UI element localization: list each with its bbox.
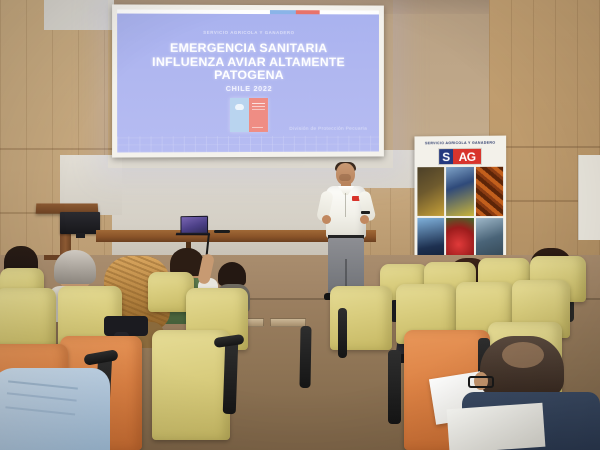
banner-organization: SERVICIO AGRICOLA Y GANADERO [414, 141, 506, 146]
banner-photo-cell [417, 167, 444, 215]
projection-screen: SERVICIO AGRICOLA Y GANADERO EMERGENCIA … [112, 4, 384, 157]
audience-member-foreground [0, 368, 110, 450]
government-logo-icon [230, 98, 268, 132]
presenter-person [316, 163, 380, 303]
slide-footer: División de Protección Pecuaria [289, 127, 367, 132]
slide-organization: SERVICIO AGRICOLA Y GANADERO [117, 30, 379, 36]
presenter-wristwatch [361, 211, 370, 214]
presentation-slide: SERVICIO AGRICOLA Y GANADERO EMERGENCIA … [117, 9, 379, 152]
eyeglasses-icon [468, 376, 494, 388]
note-paper [447, 403, 546, 450]
presenter-placket [345, 193, 346, 217]
monitor-stand [76, 233, 85, 238]
sag-rollup-banner: SERVICIO AGRICOLA Y GANADERO S AG [414, 136, 506, 271]
banner-photo-cell [446, 167, 473, 216]
sag-logo-ag: AG [453, 149, 481, 164]
banner-photo-cell [476, 167, 503, 216]
slide-subtitle: CHILE 2022 [117, 84, 379, 93]
seat-armrest [299, 326, 311, 388]
seat-armrest [223, 340, 239, 414]
slide-texture [117, 136, 379, 153]
laptop-cable-connector [214, 230, 230, 233]
seat-armrest [388, 350, 401, 424]
slide-title-line3: PATOGENA [123, 69, 373, 83]
banner-photo-grid [417, 167, 503, 267]
presentation-photograph: SERVICIO AGRICOLA Y GANADERO EMERGENCIA … [0, 0, 600, 450]
presenter-monitor [60, 212, 100, 234]
right-wall-board [578, 155, 600, 240]
slide-accent-bar [117, 9, 379, 14]
floor-vent [270, 318, 306, 327]
sag-logo-s: S [439, 149, 453, 164]
upper-left-wall-patch [44, 0, 114, 30]
presenter-right-hand [360, 215, 369, 224]
presenter-face-shadow [339, 174, 351, 181]
seat-armrest [338, 308, 347, 358]
slide-title-line1: EMERGENCIA SANITARIA [123, 42, 373, 56]
presentation-laptop [176, 216, 210, 238]
auditorium-seat [0, 288, 56, 350]
presenter-left-hand [322, 215, 331, 224]
sag-logo-icon: S AG [438, 148, 482, 165]
slide-title: EMERGENCIA SANITARIA INFLUENZA AVIAR ALT… [123, 42, 373, 83]
